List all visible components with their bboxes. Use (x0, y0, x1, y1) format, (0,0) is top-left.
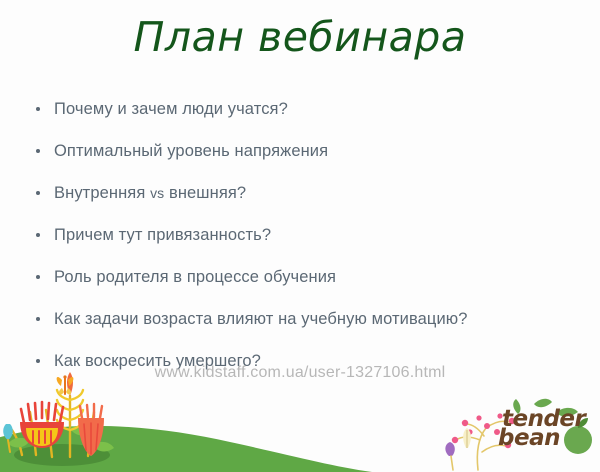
presentation-slide: План вебинара Почему и зачем люди учатся… (0, 0, 600, 472)
logo-word-bean: bean (498, 427, 560, 450)
bullet-text: Как задачи возраста влияют на учебную мо… (54, 310, 468, 329)
bullet-text: Причем тут привязанность? (54, 226, 271, 245)
bullet-text: Как воскресить умершего? (54, 352, 261, 371)
bullet-marker-icon (36, 317, 40, 321)
bullet-marker-icon (36, 107, 40, 111)
grass-patch-shape (14, 444, 110, 466)
bullet-item: Как воскресить умершего? (30, 340, 570, 382)
bullet-text: Почему и зачем люди учатся? (54, 100, 288, 119)
bullet-item: Почему и зачем люди учатся? (30, 88, 570, 130)
bullet-item: Внутренняя vs внешняя? (30, 172, 570, 214)
red-flower-shape (20, 402, 64, 448)
bullet-item: Оптимальный уровень напряжения (30, 130, 570, 172)
bullet-marker-icon (36, 275, 40, 279)
bullet-item: Как задачи возраста влияют на учебную мо… (30, 298, 570, 340)
agenda-bullet-list: Почему и зачем люди учатся? Оптимальный … (30, 88, 570, 382)
bullet-text: Роль родителя в процессе обучения (54, 268, 336, 287)
bullet-marker-icon (36, 359, 40, 363)
bullet-marker-icon (36, 149, 40, 153)
bullet-marker-icon (36, 191, 40, 195)
flower-leaves-shape (8, 426, 114, 452)
green-hill-shape (0, 426, 372, 472)
bullet-item: Роль родителя в процессе обучения (30, 256, 570, 298)
bullet-text: Внутренняя vs внешняя? (54, 184, 246, 203)
tender-bean-logo: tender bean (488, 400, 592, 456)
bullet-item: Причем тут привязанность? (30, 214, 570, 256)
slide-title: План вебинара (0, 14, 600, 61)
blue-bud-shape (3, 424, 13, 452)
bullet-marker-icon (36, 233, 40, 237)
flower-stems-shape (12, 396, 94, 457)
orange-flower-shape (78, 404, 104, 456)
bullet-text: Оптимальный уровень напряжения (54, 142, 328, 161)
